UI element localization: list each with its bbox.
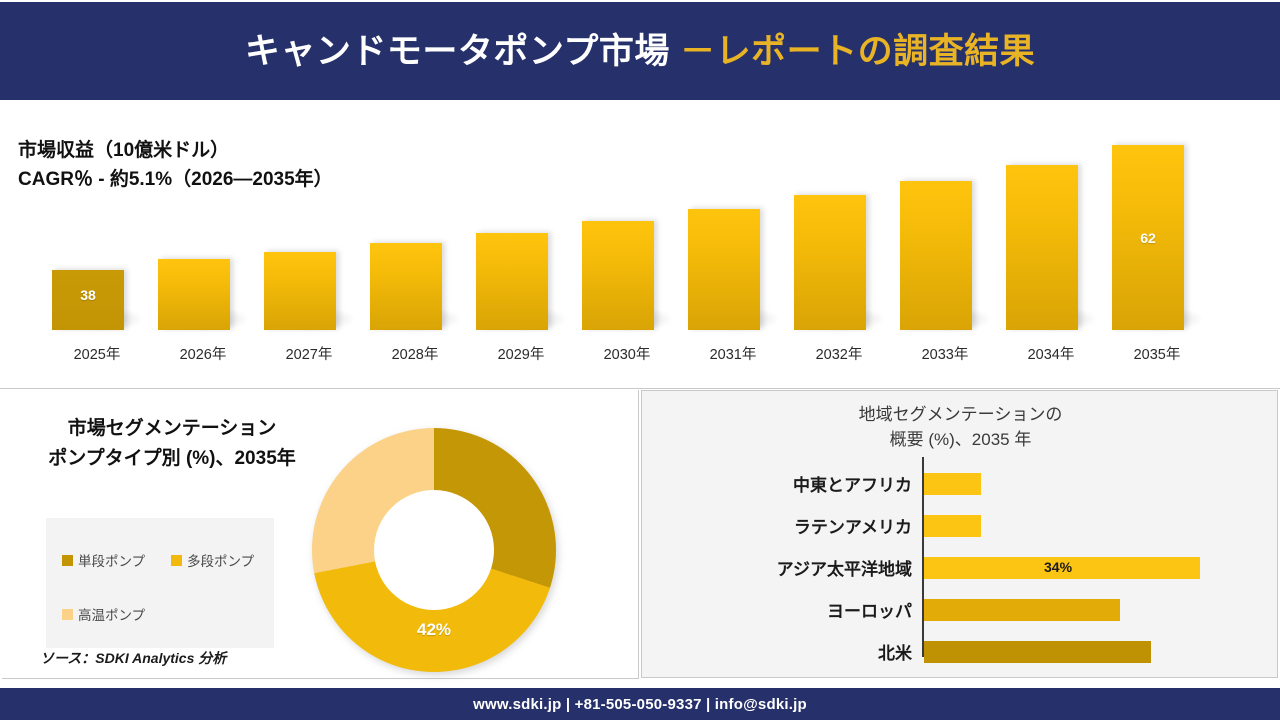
- region-label: ラテンアメリカ: [794, 513, 912, 538]
- region-row-latam: ラテンアメリカ: [642, 507, 1279, 545]
- region-bar-rect: [924, 599, 1120, 621]
- region-title-line1: 地域セグメンテーションの: [642, 403, 1279, 428]
- header-banner: キャンドモータポンプ市場 －レポートの調査結果: [0, 2, 1280, 100]
- revenue-bar-2028: 2028年: [362, 100, 468, 388]
- bar-rect: [476, 233, 548, 330]
- bar-category-label: 2027年: [256, 343, 362, 364]
- bar-rect: [900, 181, 972, 330]
- region-bar-rect: [924, 641, 1151, 663]
- segmentation-panel: 市場セグメンテーション ポンプタイプ別 (%)、2035年 単段ポンプ 多段ポン…: [2, 390, 639, 679]
- bar-category-label: 2031年: [680, 343, 786, 364]
- bar-category-label: 2032年: [786, 343, 892, 364]
- region-value-label: 34%: [1044, 559, 1072, 575]
- segmentation-title-line2: ポンプタイプ別 (%)、2035年: [22, 444, 322, 474]
- region-label: アジア太平洋地域: [777, 555, 912, 580]
- bar-category-label: 2029年: [468, 343, 574, 364]
- legend-label: 多段ポンプ: [187, 550, 254, 570]
- bar-category-label: 2033年: [892, 343, 998, 364]
- legend-item-high-temp: 高温ポンプ: [62, 604, 145, 624]
- region-bar-rect: [924, 515, 981, 537]
- region-label: ヨーロッパ: [827, 597, 912, 622]
- region-label: 中東とアフリカ: [793, 471, 912, 496]
- revenue-bars-area: 38 2025年 2026年 2027年 2028年 2: [0, 100, 1280, 388]
- infographic-page: キャンドモータポンプ市場 －レポートの調査結果 市場収益（10億米ドル） CAG…: [0, 0, 1280, 720]
- segmentation-title-line1: 市場セグメンテーション: [22, 414, 322, 444]
- region-row-north-america: 北米: [642, 633, 1279, 671]
- revenue-bar-chart: 市場収益（10億米ドル） CAGR％ - 約5.1%（2026―2035年） 3…: [0, 100, 1280, 389]
- revenue-bar-2030: 2030年: [574, 100, 680, 388]
- legend-swatch-icon: [171, 555, 182, 566]
- bar-rect: [794, 195, 866, 330]
- bar-rect: [370, 243, 442, 330]
- bar-rect: [688, 209, 760, 330]
- bar-rect: [264, 252, 336, 330]
- bar-category-label: 2030年: [574, 343, 680, 364]
- revenue-bar-2035: 62 2035年: [1104, 100, 1210, 388]
- source-note: ソース：SDKI Analytics 分析: [40, 648, 226, 668]
- region-bar-rect: [924, 473, 981, 495]
- region-row-mea: 中東とアフリカ: [642, 465, 1279, 503]
- bar-category-label: 2028年: [362, 343, 468, 364]
- region-bar-chart: 中東とアフリカ ラテンアメリカ アジア太平洋地域 34% ヨーロッパ 北米: [642, 457, 1279, 667]
- footer-banner: www.sdki.jp | +81-505-050-9337 | info@sd…: [0, 688, 1280, 720]
- region-title-line2: 概要 (%)、2035 年: [642, 428, 1279, 453]
- donut-hole: [374, 490, 494, 610]
- legend-swatch-icon: [62, 555, 73, 566]
- revenue-bar-2034: 2034年: [998, 100, 1104, 388]
- bar-rect: [582, 221, 654, 330]
- region-row-europe: ヨーロッパ: [642, 591, 1279, 629]
- bar-value-label: 38: [52, 287, 124, 303]
- revenue-bar-2031: 2031年: [680, 100, 786, 388]
- bar-category-label: 2035年: [1104, 343, 1210, 364]
- legend-label: 高温ポンプ: [78, 604, 145, 624]
- page-title-accent: －レポートの調査結果: [680, 32, 1035, 71]
- bar-category-label: 2025年: [44, 343, 150, 364]
- revenue-bar-2027: 2027年: [256, 100, 362, 388]
- segmentation-donut-chart: 42%: [312, 428, 556, 672]
- revenue-bar-2025: 38 2025年: [44, 100, 150, 388]
- legend-label: 単段ポンプ: [78, 550, 145, 570]
- region-panel: 地域セグメンテーションの 概要 (%)、2035 年 中東とアフリカ ラテンアメ…: [641, 390, 1278, 678]
- revenue-bar-2032: 2032年: [786, 100, 892, 388]
- region-row-apac: アジア太平洋地域 34%: [642, 549, 1279, 587]
- bar-value-label: 62: [1112, 230, 1184, 246]
- revenue-bar-2026: 2026年: [150, 100, 256, 388]
- page-title: キャンドモータポンプ市場 －レポートの調査結果: [245, 34, 1035, 69]
- bar-rect: [158, 259, 230, 330]
- bar-category-label: 2034年: [998, 343, 1104, 364]
- footer-contact-text: www.sdki.jp | +81-505-050-9337 | info@sd…: [473, 696, 807, 713]
- bar-category-label: 2026年: [150, 343, 256, 364]
- region-label: 北米: [878, 639, 912, 664]
- legend-item-single-stage: 単段ポンプ: [62, 550, 145, 570]
- region-title: 地域セグメンテーションの 概要 (%)、2035 年: [642, 403, 1279, 452]
- segmentation-legend: 単段ポンプ 多段ポンプ 高温ポンプ: [46, 518, 274, 648]
- revenue-bar-2029: 2029年: [468, 100, 574, 388]
- segmentation-title: 市場セグメンテーション ポンプタイプ別 (%)、2035年: [22, 414, 322, 475]
- donut-value-label: 42%: [384, 620, 484, 640]
- legend-swatch-icon: [62, 609, 73, 620]
- page-title-primary: キャンドモータポンプ市場: [245, 32, 680, 71]
- legend-item-multi-stage: 多段ポンプ: [171, 550, 254, 570]
- revenue-bar-2033: 2033年: [892, 100, 998, 388]
- bar-rect: [1006, 165, 1078, 330]
